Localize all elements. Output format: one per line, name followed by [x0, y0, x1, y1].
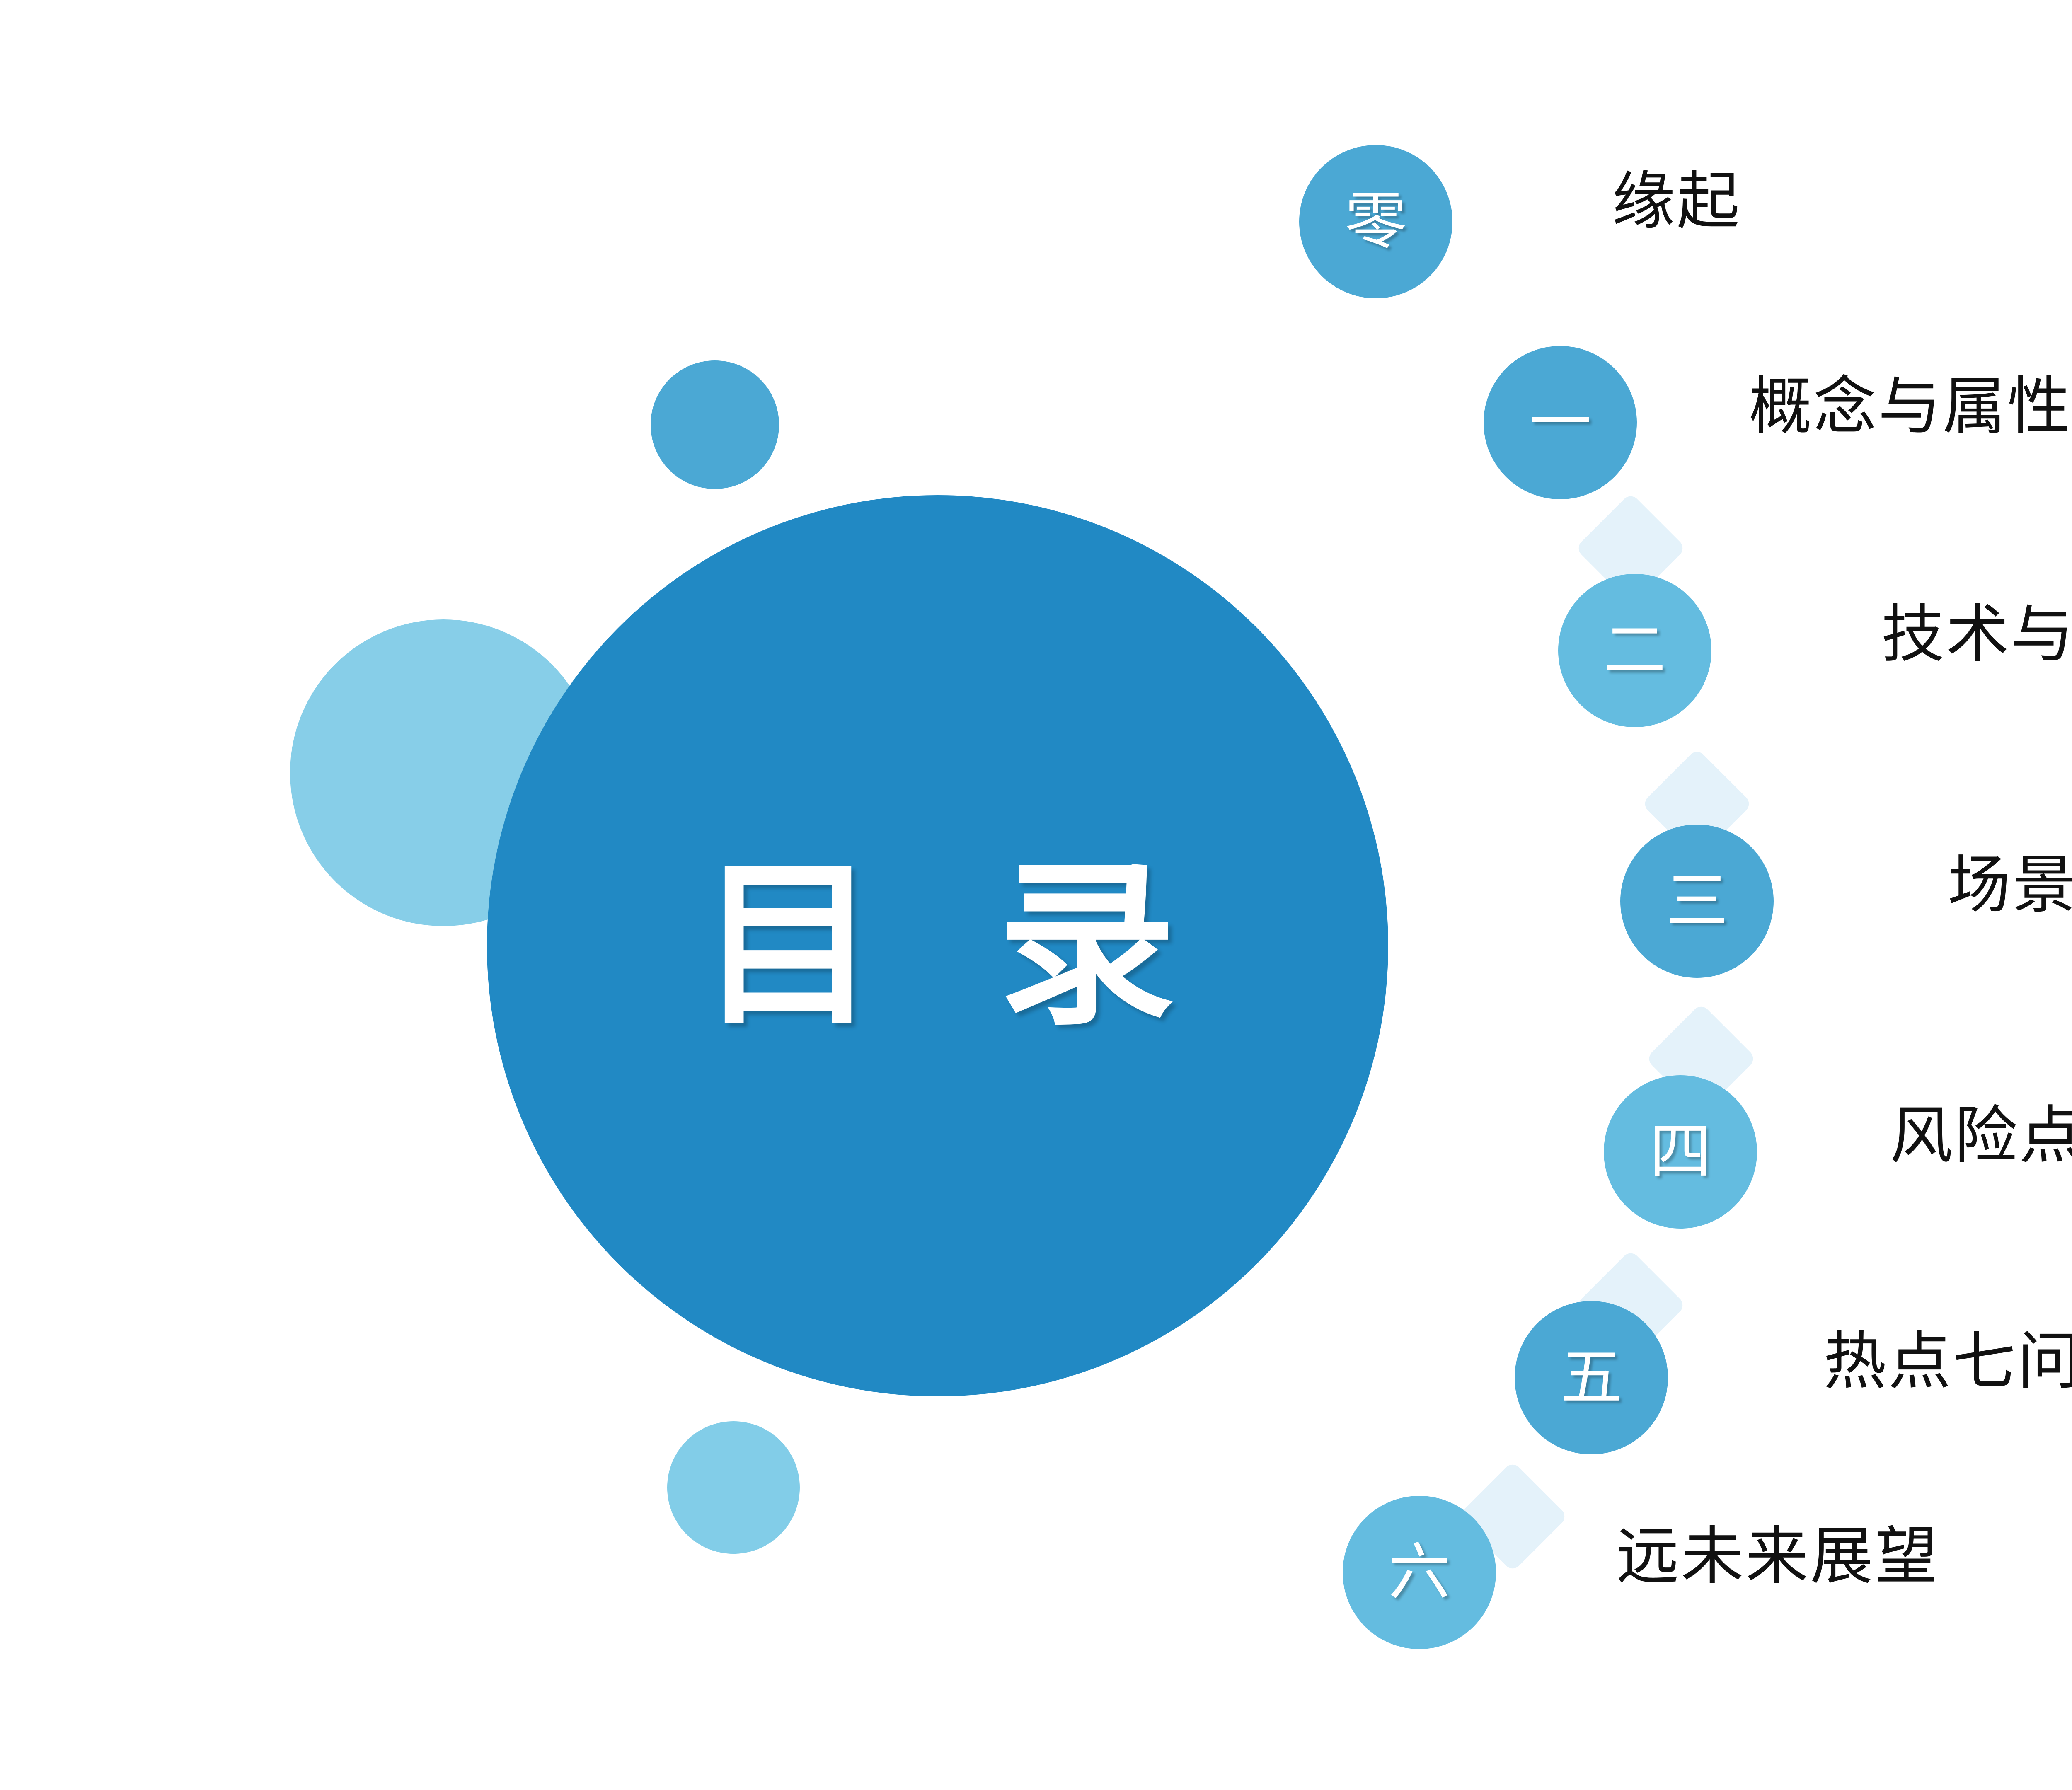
toc-numeral-1: 一 [1529, 392, 1591, 454]
toc-label-3[interactable]: 场景应用 [1948, 854, 2072, 917]
toc-bubble-0[interactable]: 零 [1299, 145, 1452, 298]
toc-numeral-2: 二 [1604, 619, 1666, 682]
toc-numeral-0: 零 [1345, 191, 1407, 253]
toc-bubble-2[interactable]: 二 [1558, 574, 1711, 727]
toc-bubble-5[interactable]: 五 [1515, 1301, 1668, 1454]
toc-label-1[interactable]: 概念与属性 [1749, 375, 2072, 438]
slide-canvas: 目 录 零 缘起 一 概念与属性 二 技术与产业链 三 场景应用 四 [0, 0, 2072, 1790]
decorative-circle-bottom [667, 1421, 800, 1554]
toc-bubble-6[interactable]: 六 [1343, 1496, 1496, 1649]
toc-numeral-5: 五 [1560, 1347, 1622, 1409]
toc-numeral-6: 六 [1388, 1541, 1450, 1604]
toc-bubble-3[interactable]: 三 [1620, 825, 1774, 978]
toc-main-circle: 目 录 [487, 495, 1388, 1396]
toc-label-6[interactable]: 远未来展望 [1616, 1525, 1939, 1588]
decorative-circle-top [651, 360, 779, 489]
toc-label-0[interactable]: 缘起 [1612, 170, 1741, 233]
toc-bubble-1[interactable]: 一 [1484, 346, 1637, 499]
toc-label-2[interactable]: 技术与产业链 [1881, 603, 2072, 666]
toc-label-5[interactable]: 热点七问 [1823, 1330, 2072, 1393]
toc-numeral-3: 三 [1666, 870, 1728, 932]
toc-label-4[interactable]: 风险点及治理 [1890, 1104, 2072, 1167]
toc-bubble-4[interactable]: 四 [1604, 1075, 1757, 1229]
page-title: 目 录 [670, 857, 1205, 1035]
toc-numeral-4: 四 [1649, 1121, 1711, 1183]
